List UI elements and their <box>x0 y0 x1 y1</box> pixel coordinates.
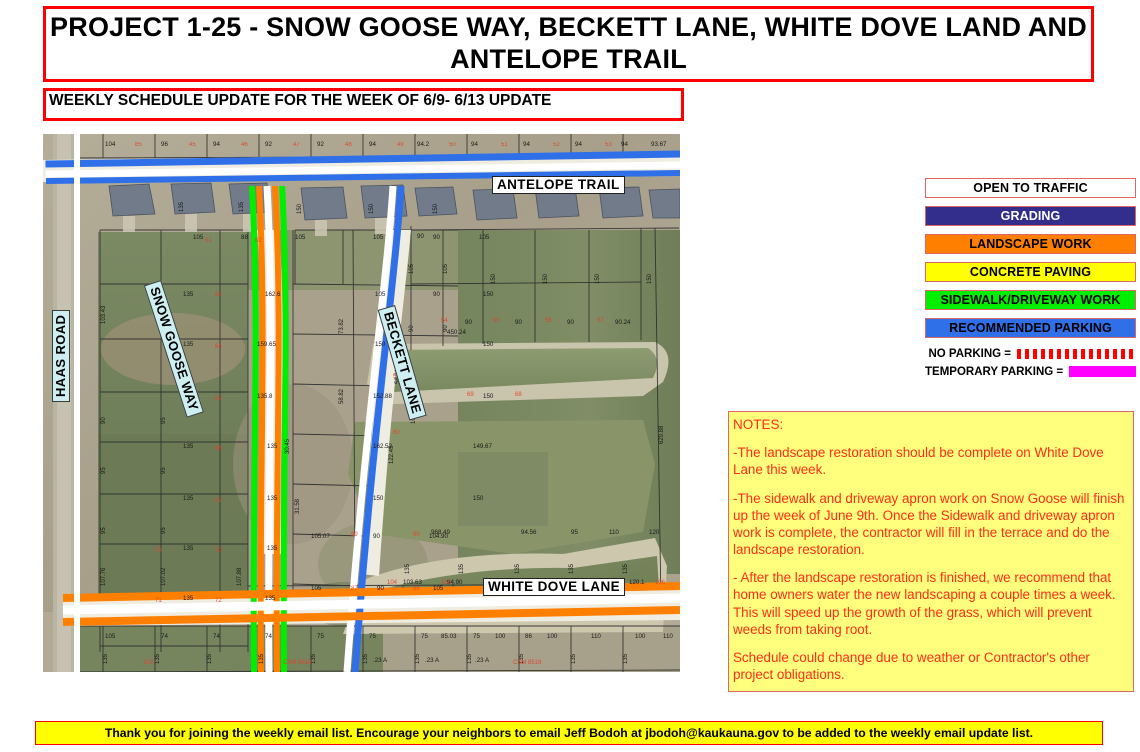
notes-panel: NOTES: -The landscape restoration should… <box>728 411 1134 692</box>
svg-text:135: 135 <box>267 545 278 552</box>
svg-text:629.88: 629.88 <box>659 425 665 444</box>
svg-text:107.02: 107.02 <box>161 567 167 586</box>
svg-text:105.07: 105.07 <box>311 533 330 540</box>
svg-text:107.76: 107.76 <box>101 567 107 586</box>
svg-text:135: 135 <box>415 653 421 664</box>
svg-text:74: 74 <box>161 633 168 640</box>
svg-text:69: 69 <box>467 392 474 398</box>
svg-text:120: 120 <box>649 529 660 536</box>
svg-text:135: 135 <box>103 653 109 664</box>
svg-text:63: 63 <box>215 292 222 298</box>
svg-text:135: 135 <box>571 653 577 664</box>
svg-text:60: 60 <box>393 430 400 436</box>
svg-text:135: 135 <box>267 443 278 450</box>
street-label-antelope-trail: ANTELOPE TRAIL <box>492 176 625 194</box>
svg-text:135: 135 <box>183 443 194 450</box>
note-paragraph-2: -The sidewalk and driveway apron work on… <box>733 490 1127 559</box>
svg-text:74: 74 <box>213 633 220 640</box>
svg-text:103.43: 103.43 <box>101 305 107 324</box>
svg-text:159.65: 159.65 <box>257 341 276 348</box>
svg-text:73.82: 73.82 <box>339 318 345 334</box>
svg-text:135: 135 <box>623 653 629 664</box>
svg-text:95: 95 <box>101 467 107 474</box>
svg-text:135: 135 <box>179 201 185 212</box>
svg-text:90: 90 <box>417 233 424 240</box>
street-label-white-dove-lane: WHITE DOVE LANE <box>483 578 625 596</box>
svg-text:105: 105 <box>311 585 322 592</box>
svg-text:65: 65 <box>215 396 222 402</box>
svg-text:135: 135 <box>363 653 369 664</box>
legend-item-no-parking: NO PARKING = <box>925 346 1136 361</box>
svg-text:72: 72 <box>215 598 222 604</box>
svg-text:86: 86 <box>525 633 532 640</box>
svg-text:51: 51 <box>501 142 508 148</box>
legend-swatch-temporary-parking <box>1069 366 1136 377</box>
svg-text:57: 57 <box>597 318 604 324</box>
svg-text:95: 95 <box>101 527 107 534</box>
svg-text:152.88: 152.88 <box>373 393 392 400</box>
svg-text:75: 75 <box>317 633 324 640</box>
notes-heading: NOTES: <box>733 416 1127 433</box>
aerial-project-map[interactable]: 10496 9492 9294 94.294 9494 9493.67 1058… <box>43 134 680 672</box>
svg-text:90: 90 <box>567 319 574 326</box>
email-list-footer: Thank you for joining the weekly email l… <box>35 721 1103 745</box>
street-label-haas-road: HAAS ROAD <box>52 310 70 402</box>
svg-text:150: 150 <box>483 291 494 298</box>
svg-text:52: 52 <box>553 142 560 148</box>
legend-item-sidewalk-driveway-work[interactable]: SIDEWALK/DRIVEWAY WORK <box>925 290 1136 310</box>
svg-text:105: 105 <box>433 585 444 592</box>
svg-text:107.88: 107.88 <box>237 567 243 586</box>
svg-text:150: 150 <box>297 203 303 214</box>
svg-text:90: 90 <box>443 325 449 332</box>
legend-label-sidewalk-driveway-work: SIDEWALK/DRIVEWAY WORK <box>941 294 1121 307</box>
svg-text:70: 70 <box>215 548 222 554</box>
weekly-update-subtitle: WEEKLY SCHEDULE UPDATE FOR THE WEEK OF 6… <box>46 91 551 110</box>
legend-parking-section: NO PARKING = TEMPORARY PARKING = <box>925 346 1136 379</box>
svg-text:150: 150 <box>369 203 375 214</box>
svg-text:150: 150 <box>433 203 439 214</box>
svg-text:48: 48 <box>345 142 352 148</box>
svg-text:94: 94 <box>621 141 628 148</box>
svg-text:.23 A: .23 A <box>425 657 440 664</box>
svg-text:105: 105 <box>375 291 386 298</box>
svg-text:450.24: 450.24 <box>447 329 466 336</box>
svg-text:94: 94 <box>471 141 478 148</box>
svg-text:105: 105 <box>441 580 452 586</box>
svg-text:49: 49 <box>397 142 404 148</box>
svg-text:47: 47 <box>293 142 300 148</box>
svg-text:71: 71 <box>155 598 162 604</box>
svg-text:150: 150 <box>543 273 549 284</box>
svg-text:90: 90 <box>413 532 420 538</box>
svg-text:45: 45 <box>189 142 196 148</box>
svg-text:135: 135 <box>155 653 161 664</box>
svg-text:85.03: 85.03 <box>441 633 457 640</box>
footer-text: Thank you for joining the weekly email l… <box>105 726 1033 740</box>
svg-text:135: 135 <box>183 545 194 552</box>
svg-text:94: 94 <box>523 141 530 148</box>
svg-text:90: 90 <box>515 319 522 326</box>
svg-text:135: 135 <box>239 201 245 212</box>
svg-text:94.56: 94.56 <box>521 529 537 536</box>
legend-item-landscape-work[interactable]: LANDSCAPE WORK <box>925 234 1136 254</box>
svg-text:110: 110 <box>663 633 673 640</box>
svg-text:105: 105 <box>479 234 490 241</box>
svg-text:135: 135 <box>183 495 194 502</box>
svg-text:46: 46 <box>241 142 248 148</box>
svg-text:105: 105 <box>409 263 415 274</box>
svg-text:75: 75 <box>369 633 376 640</box>
svg-text:135: 135 <box>183 595 194 602</box>
svg-text:150: 150 <box>473 495 484 502</box>
svg-text:135: 135 <box>267 495 278 502</box>
svg-text:103.63: 103.63 <box>403 579 422 586</box>
svg-text:135: 135 <box>207 653 213 664</box>
svg-text:62: 62 <box>255 238 262 244</box>
svg-text:135: 135 <box>183 291 194 298</box>
svg-text:90: 90 <box>373 533 380 540</box>
svg-text:96: 96 <box>161 141 168 148</box>
legend-item-grading[interactable]: GRADING <box>925 206 1136 226</box>
map-legend: OPEN TO TRAFFIC GRADING LANDSCAPE WORK C… <box>925 178 1136 382</box>
svg-text:105: 105 <box>443 263 449 274</box>
svg-text:135: 135 <box>311 653 317 664</box>
svg-text:85: 85 <box>135 142 142 148</box>
weekly-update-subtitle-box: WEEKLY SCHEDULE UPDATE FOR THE WEEK OF 6… <box>43 88 684 121</box>
svg-text:135: 135 <box>259 653 265 664</box>
svg-text:110: 110 <box>591 633 601 640</box>
note-paragraph-4: Schedule could change due to weather or … <box>733 649 1127 683</box>
svg-text:104: 104 <box>387 580 398 586</box>
svg-text:95: 95 <box>161 417 167 424</box>
svg-text:74: 74 <box>265 633 272 640</box>
legend-item-concrete-paving[interactable]: CONCRETE PAVING <box>925 262 1136 282</box>
legend-item-recommended-parking[interactable]: RECOMMENDED PARKING <box>925 318 1136 338</box>
legend-item-temporary-parking: TEMPORARY PARKING = <box>925 364 1136 379</box>
svg-text:135: 135 <box>405 563 411 574</box>
svg-text:31.58: 31.58 <box>295 498 301 514</box>
svg-text:150: 150 <box>375 341 386 348</box>
svg-text:89: 89 <box>351 532 358 538</box>
svg-text:100: 100 <box>495 633 506 640</box>
svg-text:104: 104 <box>105 141 116 148</box>
svg-text:30.45: 30.45 <box>285 438 291 454</box>
svg-text:100: 100 <box>547 633 558 640</box>
svg-text:75: 75 <box>421 633 428 640</box>
svg-text:90: 90 <box>433 291 440 298</box>
note-paragraph-3: - After the landscape restoration is fin… <box>733 569 1127 638</box>
svg-text:105: 105 <box>105 633 116 640</box>
legend-label-no-parking: NO PARKING = <box>928 348 1011 360</box>
svg-text:122.45: 122.45 <box>389 445 395 464</box>
svg-text:66: 66 <box>215 446 222 452</box>
svg-text:968.49: 968.49 <box>431 529 450 536</box>
svg-text:93.67: 93.67 <box>651 141 667 148</box>
svg-text:135: 135 <box>467 653 473 664</box>
svg-text:149.67: 149.67 <box>473 443 492 450</box>
svg-text:50: 50 <box>449 142 456 148</box>
svg-text:95: 95 <box>161 467 167 474</box>
svg-text:90: 90 <box>433 234 440 241</box>
svg-text:88: 88 <box>413 586 420 592</box>
svg-text:150: 150 <box>595 273 601 284</box>
svg-text:67: 67 <box>215 498 222 504</box>
legend-label-grading: GRADING <box>1001 210 1061 223</box>
svg-text:150: 150 <box>373 495 384 502</box>
page-root: PROJECT 1-25 - SNOW GOOSE WAY, BECKETT L… <box>0 0 1140 752</box>
svg-text:135: 135 <box>623 563 629 574</box>
svg-text:90: 90 <box>409 325 415 332</box>
svg-text:106: 106 <box>655 580 666 586</box>
svg-text:105: 105 <box>373 234 384 241</box>
svg-text:.23 A: .23 A <box>373 657 388 664</box>
svg-text:135: 135 <box>569 563 575 574</box>
svg-text:135: 135 <box>183 341 194 348</box>
svg-text:70: 70 <box>155 548 162 554</box>
svg-text:87: 87 <box>351 586 358 592</box>
svg-text:68: 68 <box>515 392 522 398</box>
svg-text:90.24: 90.24 <box>615 319 631 326</box>
svg-text:105: 105 <box>193 234 204 241</box>
svg-text:CSM 8518: CSM 8518 <box>283 660 312 666</box>
svg-text:150: 150 <box>483 393 494 400</box>
svg-text:95: 95 <box>161 527 167 534</box>
svg-text:94: 94 <box>213 141 220 148</box>
svg-text:56: 56 <box>545 318 552 324</box>
svg-text:135: 135 <box>459 563 465 574</box>
legend-label-concrete-paving: CONCRETE PAVING <box>970 266 1091 279</box>
svg-text:64: 64 <box>215 344 222 350</box>
legend-label-temporary-parking: TEMPORARY PARKING = <box>925 366 1063 378</box>
svg-text:92: 92 <box>317 141 324 148</box>
svg-text:150: 150 <box>491 273 497 284</box>
svg-text:135.8: 135.8 <box>257 393 273 400</box>
svg-text:95: 95 <box>571 529 578 536</box>
svg-text:61: 61 <box>205 238 212 244</box>
svg-text:75: 75 <box>473 633 480 640</box>
svg-text:135: 135 <box>265 595 276 602</box>
svg-text:90: 90 <box>377 585 384 592</box>
svg-text:150: 150 <box>647 273 653 284</box>
project-title-box: PROJECT 1-25 - SNOW GOOSE WAY, BECKETT L… <box>43 6 1094 82</box>
svg-text:88: 88 <box>241 234 248 241</box>
svg-text:58.82: 58.82 <box>339 388 345 404</box>
svg-text:150: 150 <box>483 341 494 348</box>
svg-text:53: 53 <box>605 142 612 148</box>
svg-text:110: 110 <box>609 529 619 536</box>
svg-text:CSM 8518: CSM 8518 <box>513 660 542 666</box>
svg-text:105: 105 <box>295 234 306 241</box>
svg-text:102: 102 <box>143 660 154 666</box>
legend-swatch-no-parking <box>1017 349 1136 359</box>
legend-label-open-to-traffic: OPEN TO TRAFFIC <box>973 182 1087 195</box>
legend-label-recommended-parking: RECOMMENDED PARKING <box>949 322 1112 335</box>
svg-text:94.2: 94.2 <box>417 141 430 148</box>
legend-item-open-to-traffic[interactable]: OPEN TO TRAFFIC <box>925 178 1136 198</box>
svg-text:55: 55 <box>493 318 500 324</box>
page-title: PROJECT 1-25 - SNOW GOOSE WAY, BECKETT L… <box>46 12 1091 76</box>
svg-text:120.1: 120.1 <box>629 579 645 586</box>
svg-text:162.6: 162.6 <box>265 291 281 298</box>
svg-text:92: 92 <box>265 141 272 148</box>
svg-text:94: 94 <box>575 141 582 148</box>
svg-text:135: 135 <box>515 563 521 574</box>
svg-text:54: 54 <box>441 318 448 324</box>
svg-text:94: 94 <box>369 141 376 148</box>
svg-text:90: 90 <box>465 319 472 326</box>
svg-text:.23 A: .23 A <box>475 657 490 664</box>
svg-text:90: 90 <box>101 417 107 424</box>
note-paragraph-1: -The landscape restoration should be com… <box>733 444 1127 478</box>
svg-text:100: 100 <box>635 633 646 640</box>
legend-label-landscape-work: LANDSCAPE WORK <box>969 238 1091 251</box>
